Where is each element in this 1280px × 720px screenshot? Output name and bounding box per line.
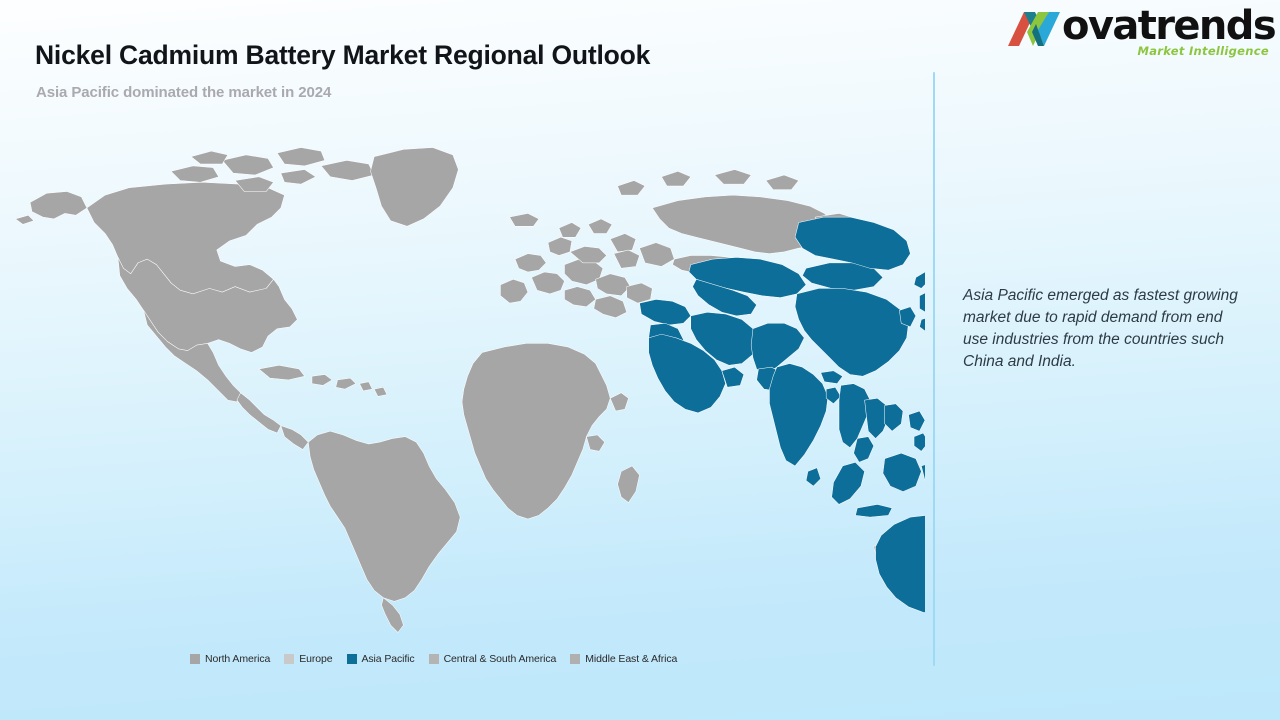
legend-item-north-america[interactable]: North America: [190, 653, 270, 665]
map-landmasses-asia-pacific: [640, 217, 925, 632]
legend-label-europe: Europe: [299, 653, 332, 665]
legend-label-north-america: North America: [205, 653, 270, 665]
legend-item-middle-east-africa[interactable]: Middle East & Africa: [570, 653, 677, 665]
world-map-container: [10, 140, 925, 640]
brand-logo: ovatrends Market Intelligence: [1004, 4, 1272, 60]
callout-text: Asia Pacific emerged as fastest growing …: [963, 285, 1251, 373]
legend-swatch-north-america: [190, 654, 200, 664]
logo-wordmark: ovatrends: [1062, 3, 1275, 49]
logo-tagline: Market Intelligence: [1137, 44, 1269, 58]
legend-swatch-asia-pacific: [347, 654, 357, 664]
legend-swatch-middle-east-africa: [570, 654, 580, 664]
page-subtitle: Asia Pacific dominated the market in 202…: [36, 84, 331, 101]
legend-label-asia-pacific: Asia Pacific: [362, 653, 415, 665]
legend-swatch-europe: [284, 654, 294, 664]
legend-item-central-south-america[interactable]: Central & South America: [429, 653, 557, 665]
map-legend: North America Europe Asia Pacific Centra…: [190, 653, 677, 665]
page-title: Nickel Cadmium Battery Market Regional O…: [35, 40, 650, 71]
novatrends-n-mark-icon: [1008, 8, 1068, 50]
legend-item-europe[interactable]: Europe: [284, 653, 332, 665]
world-map: [10, 140, 925, 640]
vertical-divider: [933, 72, 935, 666]
legend-item-asia-pacific[interactable]: Asia Pacific: [347, 653, 415, 665]
legend-swatch-central-south-america: [429, 654, 439, 664]
legend-label-central-south-america: Central & South America: [444, 653, 557, 665]
legend-label-middle-east-africa: Middle East & Africa: [585, 653, 677, 665]
